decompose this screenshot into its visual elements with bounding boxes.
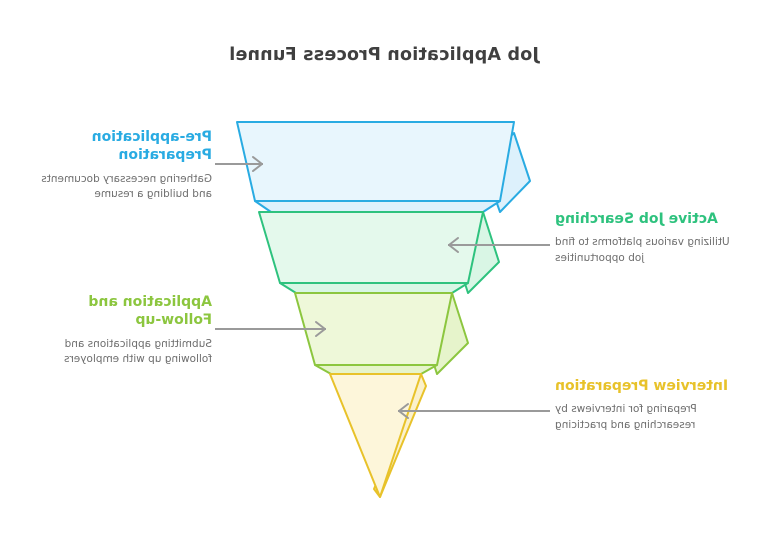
funnel-diagram (0, 0, 768, 544)
funnel-stage-2[interactable] (259, 212, 499, 293)
funnel-label-4[interactable]: Interview Preparation Preparing for inte… (555, 377, 740, 433)
funnel-label-3-title: Application and Follow-up (27, 293, 212, 330)
funnel-stage-1[interactable] (237, 122, 530, 212)
funnel-label-4-title: Interview Preparation (555, 377, 740, 395)
connector-arrow-4 (398, 404, 550, 418)
funnel-stage-4-face (330, 374, 421, 497)
funnel-label-1[interactable]: Pre-application Preparation Gathering ne… (27, 128, 212, 202)
funnel-label-3-description: Submitting applications and following up… (27, 337, 212, 367)
funnel-stage-1-rim (255, 201, 500, 212)
funnel-stage-2-rim (280, 283, 468, 293)
funnel-stage-4[interactable] (330, 374, 426, 497)
funnel-label-1-title: Pre-application Preparation (27, 128, 212, 165)
funnel-label-2[interactable]: Active Job Searching Utilizing various p… (555, 210, 740, 266)
funnel-label-1-description: Gathering necessary documents and buildi… (27, 172, 212, 202)
funnel-stage-2-face (259, 212, 483, 283)
funnel-label-3[interactable]: Application and Follow-up Submitting app… (27, 293, 212, 367)
funnel-stage-3-rim (315, 365, 437, 374)
funnel-label-2-description: Utilizing various platforms to find job … (555, 235, 740, 265)
mirrored-canvas: Job Application Process Funnel (0, 0, 768, 544)
connector-arrow-1 (215, 157, 263, 171)
funnel-label-4-description: Preparing for interviews by researching … (555, 402, 740, 432)
funnel-stage-1-face (237, 122, 514, 201)
funnel-stage-3[interactable] (295, 293, 468, 374)
funnel-label-2-title: Active Job Searching (555, 210, 740, 228)
